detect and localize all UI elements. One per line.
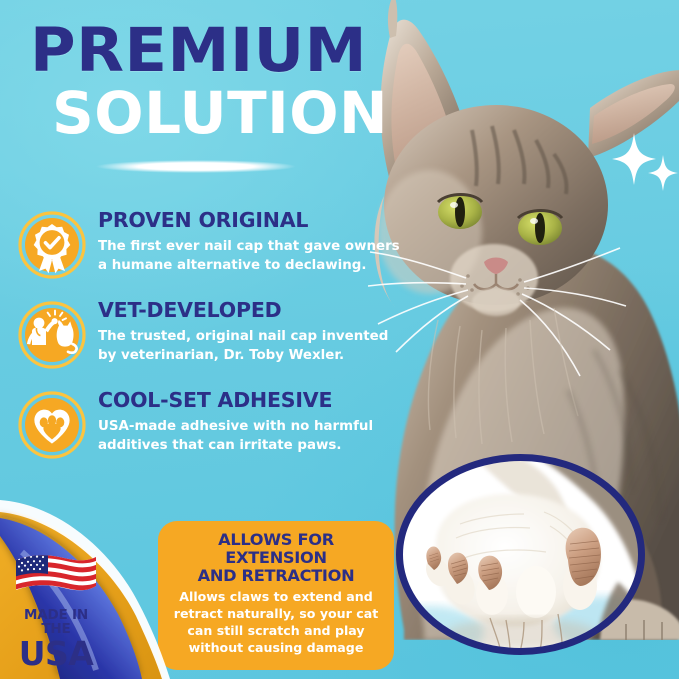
feature-title: VET-DEVELOPED bbox=[98, 299, 408, 322]
product-marketing-image: PREMIUM SOLUTION PROVEN ORIGINAL The fir… bbox=[0, 0, 679, 679]
usa-flag-icon bbox=[14, 552, 98, 602]
award-rosette-icon bbox=[18, 211, 86, 279]
headline-solution: SOLUTION bbox=[52, 84, 430, 142]
feature-list: PROVEN ORIGINAL The first ever nail cap … bbox=[18, 205, 408, 475]
heart-paw-print-icon bbox=[18, 391, 86, 459]
feature-vet-developed: VET-DEVELOPED The trusted, original nail… bbox=[18, 295, 408, 369]
sparkle-star-small bbox=[648, 155, 678, 191]
feature-body: The first ever nail cap that gave owners… bbox=[98, 237, 408, 276]
callout-body: Allows claws to extend and retract natur… bbox=[170, 589, 382, 657]
feature-body: USA-made adhesive with no harmful additi… bbox=[98, 417, 408, 456]
made-in-usa-badge: MADE IN THE USA bbox=[8, 552, 104, 671]
feature-cool-set-adhesive: COOL-SET ADHESIVE USA-made adhesive with… bbox=[18, 385, 408, 459]
callout-title-line2: AND RETRACTION bbox=[198, 566, 355, 585]
feature-proven-original: PROVEN ORIGINAL The first ever nail cap … bbox=[18, 205, 408, 279]
extension-retraction-callout: ALLOWS FOR EXTENSION AND RETRACTION Allo… bbox=[158, 521, 394, 670]
vet-high-five-cat-icon bbox=[18, 301, 86, 369]
feature-title: COOL-SET ADHESIVE bbox=[98, 389, 408, 412]
feature-title: PROVEN ORIGINAL bbox=[98, 209, 408, 232]
usa-label: USA bbox=[8, 637, 104, 671]
brush-stroke-underline bbox=[96, 160, 296, 173]
feature-body: The trusted, original nail cap invented … bbox=[98, 327, 408, 366]
headline-block: PREMIUM SOLUTION bbox=[30, 22, 430, 142]
made-in-the-label: MADE IN THE bbox=[8, 609, 104, 636]
headline-premium: PREMIUM bbox=[30, 22, 438, 80]
cat-paw-with-nail-caps-closeup bbox=[394, 452, 647, 657]
callout-title-line1: ALLOWS FOR EXTENSION bbox=[218, 530, 334, 567]
callout-title: ALLOWS FOR EXTENSION AND RETRACTION bbox=[170, 531, 382, 584]
